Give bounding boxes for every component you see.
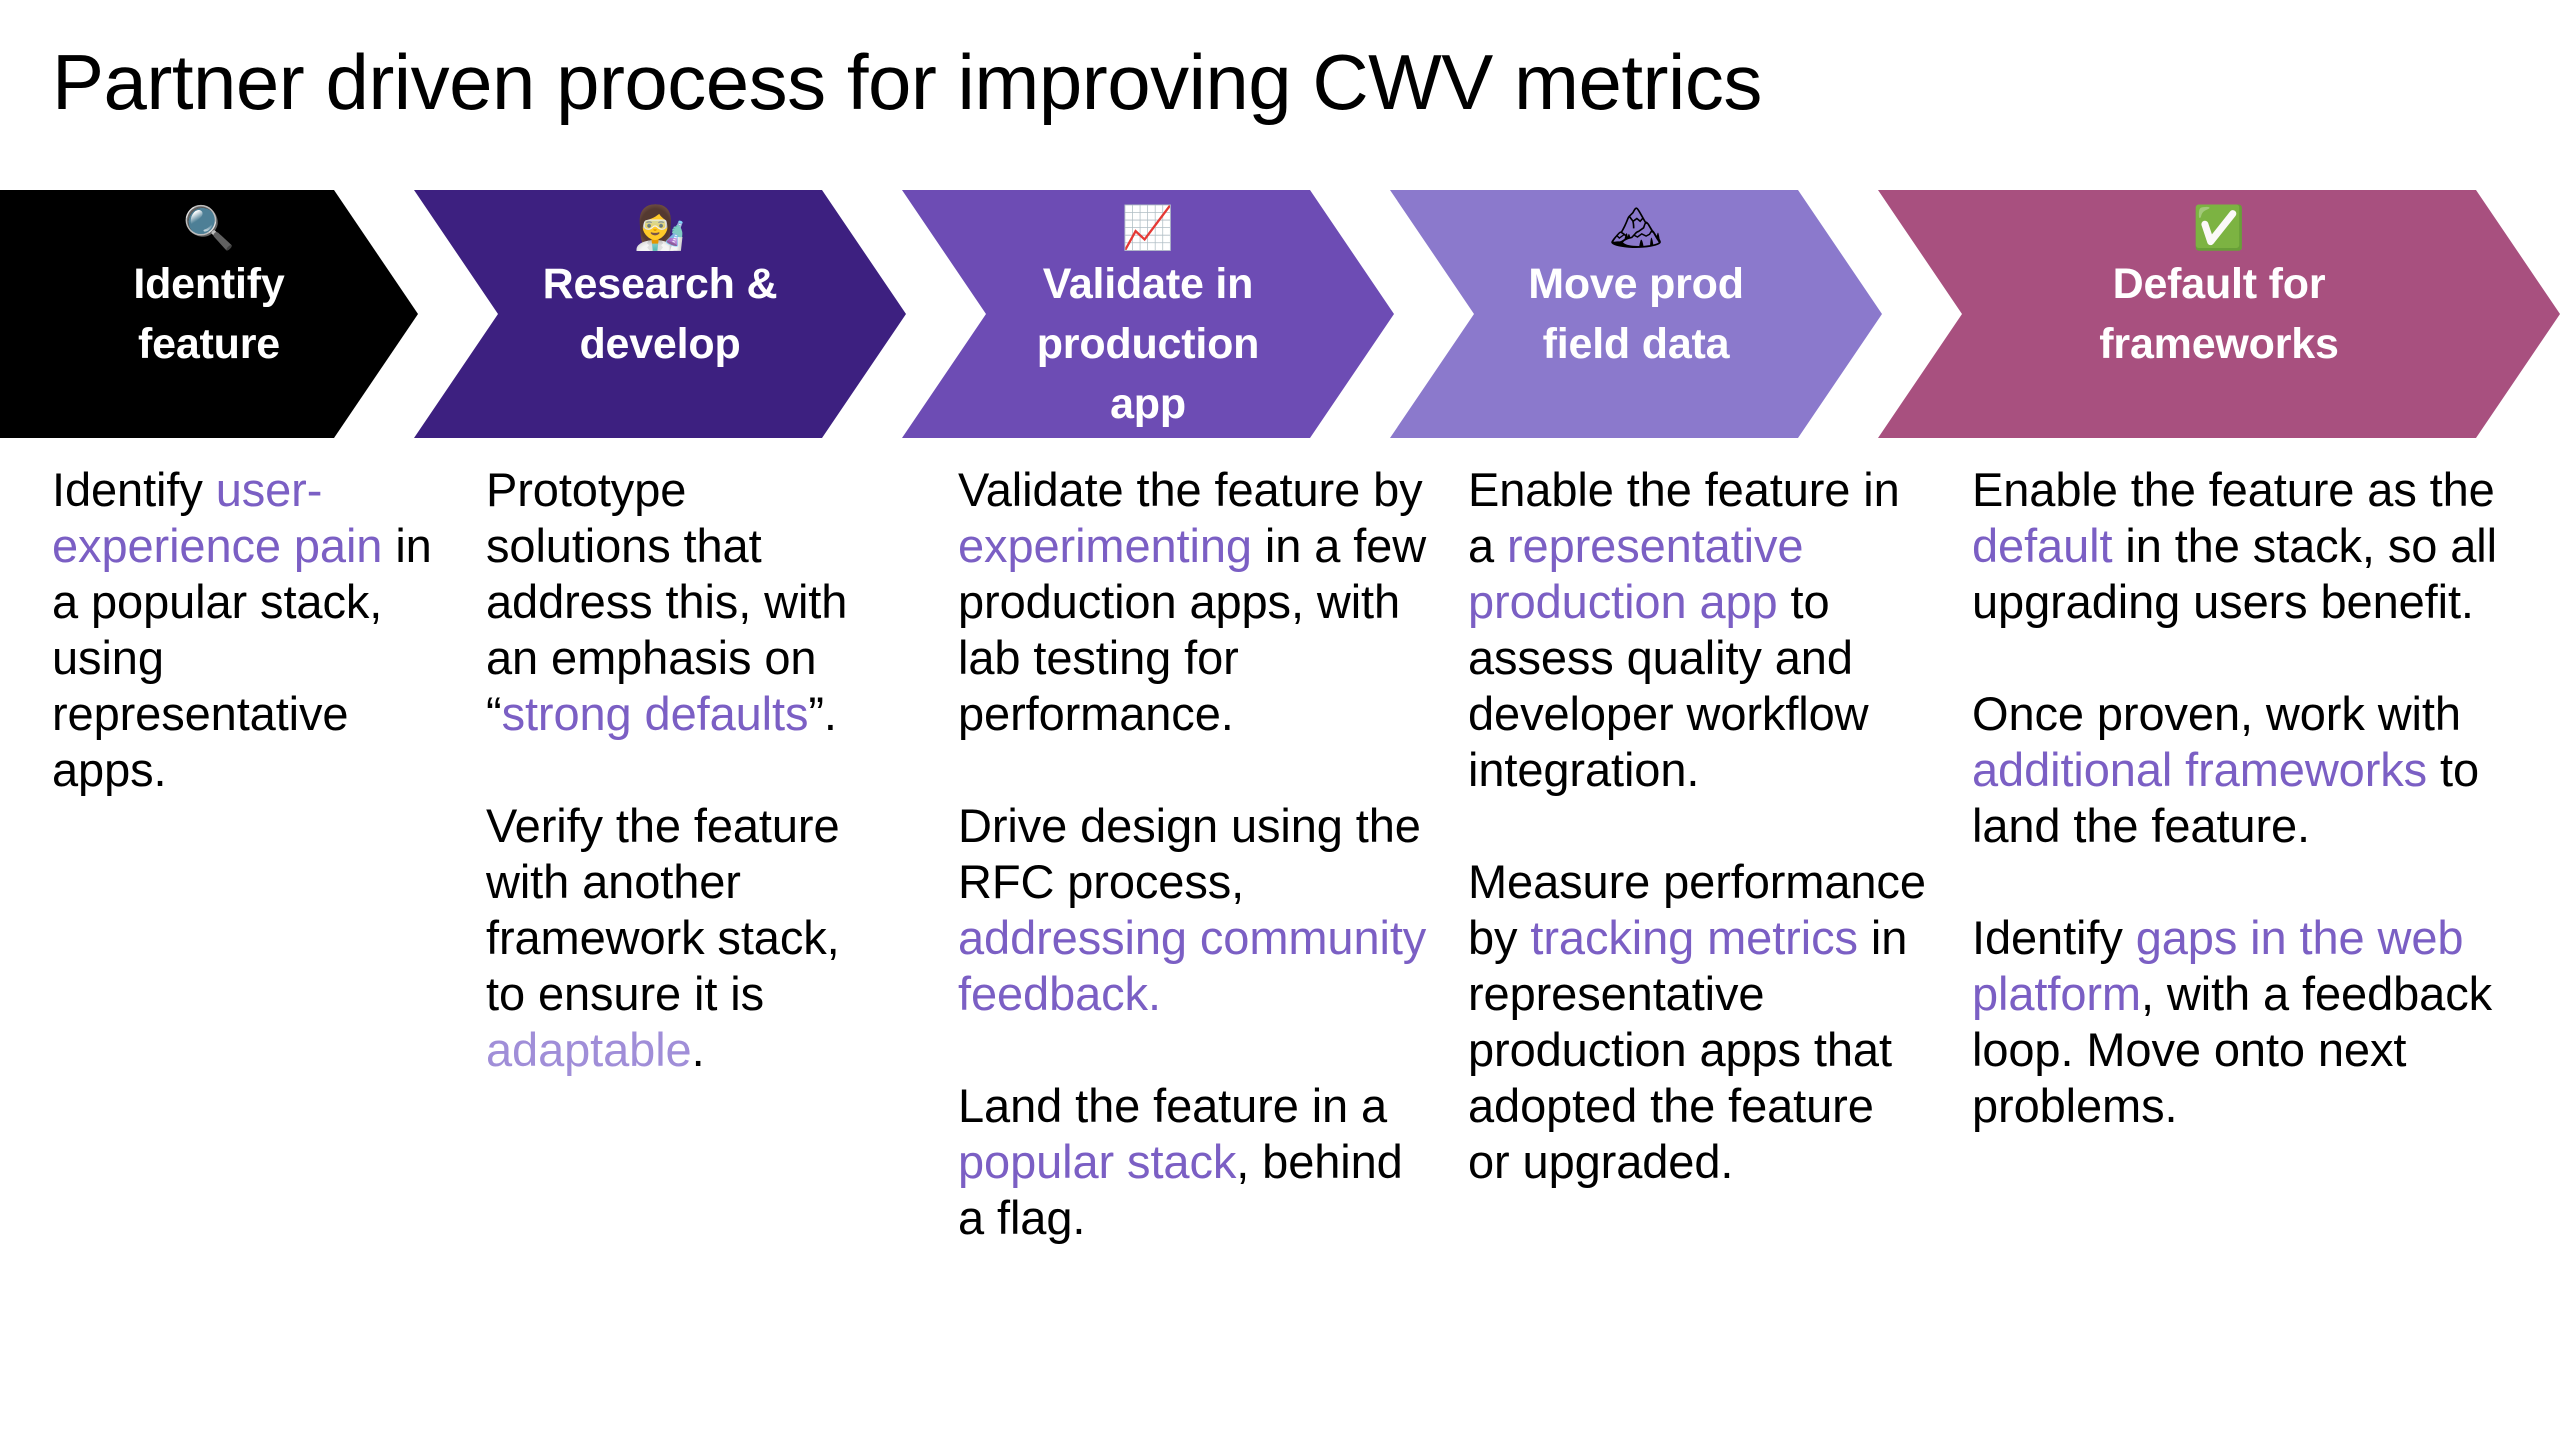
paragraph: Enable the feature as the default in the… <box>1972 462 2512 630</box>
body-text: Identify <box>52 463 216 516</box>
highlighted-text: tracking metrics <box>1530 911 1857 964</box>
body-text: ”. <box>808 687 837 740</box>
chevron-label-research-develop: Research &develop <box>543 254 778 374</box>
paragraph: Prototype solutions that address this, w… <box>486 462 878 742</box>
highlighted-text: default <box>1972 519 2112 572</box>
body-text: Verify the feature with another framewor… <box>486 799 840 1020</box>
body-text: Land the feature in a <box>958 1079 1387 1132</box>
chart-increasing-icon: 📈 <box>1122 204 1174 252</box>
chevron-label-move-prod-field-data: Move prodfield data <box>1528 254 1744 374</box>
paragraph: Drive design using the RFC process, addr… <box>958 798 1428 1022</box>
chevron-stage-validate-in-production-app[interactable]: 📈Validate inproductionapp <box>902 190 1394 438</box>
paragraph: Enable the feature in a representative p… <box>1468 462 1928 798</box>
process-description-columns: Identify user-experience pain in a popul… <box>0 462 2560 1342</box>
body-text: Identify <box>1972 911 2136 964</box>
column-default-for-frameworks: Enable the feature as the default in the… <box>1972 462 2512 1134</box>
check-mark-button-icon: ✅ <box>2193 204 2245 252</box>
chevron-label-identify-feature: Identifyfeature <box>133 254 284 374</box>
highlighted-text: popular stack <box>958 1135 1236 1188</box>
highlighted-text: additional frameworks <box>1972 743 2427 796</box>
column-research-develop: Prototype solutions that address this, w… <box>486 462 878 1078</box>
body-text: Validate the feature by <box>958 463 1423 516</box>
body-text: Drive design using the RFC process, <box>958 799 1421 908</box>
body-text: Once proven, work with <box>1972 687 2461 740</box>
chevron-label-default-for-frameworks: Default forframeworks <box>2099 254 2338 374</box>
paragraph: Measure performance by tracking metrics … <box>1468 854 1928 1190</box>
paragraph: Identify gaps in the web platform, with … <box>1972 910 2512 1134</box>
page-title: Partner driven process for improving CWV… <box>52 34 1762 130</box>
body-text: Enable the feature as the <box>1972 463 2495 516</box>
paragraph: Once proven, work with additional framew… <box>1972 686 2512 854</box>
body-text: . <box>692 1023 705 1076</box>
highlighted-text-light: adaptable <box>486 1023 692 1076</box>
highlighted-text: addressing community feedback. <box>958 911 1426 1020</box>
snow-capped-mountain-icon: 🏔 <box>1609 204 1662 252</box>
slide-root: Partner driven process for improving CWV… <box>0 0 2560 1440</box>
paragraph: Validate the feature by experimenting in… <box>958 462 1428 742</box>
paragraph: Land the feature in a popular stack, beh… <box>958 1078 1428 1246</box>
chevron-stage-research-develop[interactable]: 👩‍🔬Research &develop <box>414 190 906 438</box>
chevron-stage-identify-feature[interactable]: 🔍Identifyfeature <box>0 190 418 438</box>
column-validate-in-production-app: Validate the feature by experimenting in… <box>958 462 1428 1246</box>
scientist-icon: 👩‍🔬 <box>634 204 686 252</box>
paragraph: Identify user-experience pain in a popul… <box>52 462 442 798</box>
magnifying-glass-icon: 🔍 <box>183 204 235 252</box>
paragraph: Verify the feature with another framewor… <box>486 798 878 1078</box>
chevron-label-validate-in-production-app: Validate inproductionapp <box>1037 254 1260 434</box>
chevron-stage-default-for-frameworks[interactable]: ✅Default forframeworks <box>1878 190 2560 438</box>
column-move-prod-field-data: Enable the feature in a representative p… <box>1468 462 1928 1190</box>
chevron-stage-move-prod-field-data[interactable]: 🏔Move prodfield data <box>1390 190 1882 438</box>
highlighted-text: strong defaults <box>502 687 809 740</box>
process-chevron-band: 🔍Identifyfeature👩‍🔬Research &develop📈Val… <box>0 190 2560 438</box>
column-identify-feature: Identify user-experience pain in a popul… <box>52 462 442 798</box>
highlighted-text: representative production app <box>1468 519 1803 628</box>
highlighted-text: experimenting <box>958 519 1252 572</box>
